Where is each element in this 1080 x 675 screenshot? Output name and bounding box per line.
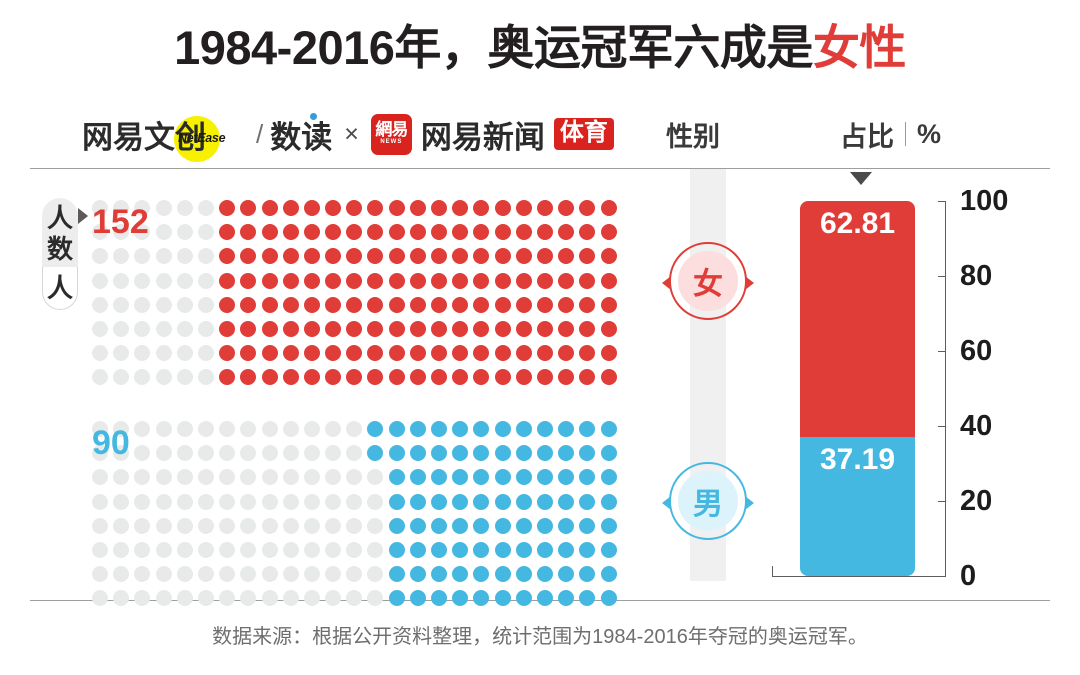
dot-grid-male: [92, 421, 622, 615]
dot-filled: [473, 224, 489, 240]
dot-empty: [198, 445, 214, 461]
dot-empty: [262, 469, 278, 485]
netease-news-logo: 網易 NEWS: [371, 114, 412, 155]
dot-filled: [601, 369, 617, 385]
dot-empty: [262, 445, 278, 461]
dot-filled: [283, 248, 299, 264]
dot-empty: [134, 273, 150, 289]
dot-filled: [410, 494, 426, 510]
dot-filled: [579, 321, 595, 337]
dot-empty: [177, 566, 193, 582]
dot-filled: [495, 345, 511, 361]
dot-empty: [113, 297, 129, 313]
dot-empty: [134, 566, 150, 582]
sub-brand-shudu: 数读: [270, 112, 332, 157]
column-header-gender-label: 性别: [666, 115, 720, 154]
dot-empty: [134, 590, 150, 606]
dot-filled: [516, 273, 532, 289]
dot-filled: [473, 421, 489, 437]
dot-filled: [495, 248, 511, 264]
dot-filled: [601, 224, 617, 240]
bar-segment-male[interactable]: 37.19: [800, 437, 915, 576]
dot-filled: [495, 469, 511, 485]
dot-filled: [240, 321, 256, 337]
dot-filled: [579, 542, 595, 558]
dot-empty: [92, 494, 108, 510]
dot-filled: [452, 273, 468, 289]
dot-filled: [304, 224, 320, 240]
dot-filled: [452, 518, 468, 534]
dot-filled: [579, 273, 595, 289]
dot-filled: [431, 224, 447, 240]
dot-filled: [262, 369, 278, 385]
dot-filled: [431, 369, 447, 385]
dot-filled: [389, 518, 405, 534]
dot-empty: [346, 421, 362, 437]
dot-filled: [325, 369, 341, 385]
dot-filled: [219, 273, 235, 289]
dot-empty: [240, 445, 256, 461]
dot-filled: [579, 369, 595, 385]
dot-filled: [304, 248, 320, 264]
dot-filled: [283, 345, 299, 361]
dot-filled: [304, 200, 320, 216]
dot-filled: [452, 445, 468, 461]
dot-empty: [304, 542, 320, 558]
y-axis-tick-label: 80: [960, 262, 992, 291]
dot-empty: [134, 542, 150, 558]
dot-filled: [579, 345, 595, 361]
dot-filled: [304, 369, 320, 385]
dot-empty: [198, 200, 214, 216]
dot-filled: [240, 248, 256, 264]
dot-filled: [495, 494, 511, 510]
dot-empty: [156, 590, 172, 606]
dot-empty: [134, 518, 150, 534]
dot-filled: [473, 518, 489, 534]
dot-empty: [346, 590, 362, 606]
dot-filled: [304, 273, 320, 289]
dot-empty: [177, 542, 193, 558]
dot-empty: [325, 590, 341, 606]
y-axis-tick-label: 40: [960, 412, 992, 441]
dot-filled: [367, 273, 383, 289]
dot-filled: [410, 566, 426, 582]
dot-filled: [516, 469, 532, 485]
dot-empty: [177, 518, 193, 534]
dot-filled: [601, 273, 617, 289]
dot-filled: [452, 345, 468, 361]
dot-filled: [410, 200, 426, 216]
dot-filled: [579, 518, 595, 534]
y-axis-line: [945, 201, 946, 576]
dot-empty: [134, 248, 150, 264]
dot-filled: [452, 469, 468, 485]
dot-filled: [516, 421, 532, 437]
dot-empty: [198, 248, 214, 264]
dot-empty: [177, 297, 193, 313]
dot-filled: [431, 273, 447, 289]
dot-filled: [283, 369, 299, 385]
dot-empty: [346, 494, 362, 510]
dot-filled: [452, 421, 468, 437]
dot-empty: [325, 445, 341, 461]
dot-filled: [516, 494, 532, 510]
dot-filled: [516, 369, 532, 385]
dot-empty: [177, 590, 193, 606]
dot-empty: [198, 321, 214, 337]
dot-filled: [240, 369, 256, 385]
dot-empty: [134, 345, 150, 361]
dot-filled: [558, 273, 574, 289]
dot-filled: [579, 421, 595, 437]
y-axis-tick: [938, 201, 946, 202]
dot-filled: [219, 369, 235, 385]
dot-empty: [113, 469, 129, 485]
blue-dot-icon: [310, 113, 317, 120]
dot-filled: [579, 566, 595, 582]
dot-filled: [325, 297, 341, 313]
dot-empty: [219, 421, 235, 437]
dot-filled: [452, 200, 468, 216]
dot-filled: [219, 345, 235, 361]
dot-filled: [558, 590, 574, 606]
dot-filled: [601, 200, 617, 216]
dot-empty: [198, 590, 214, 606]
dot-empty: [283, 421, 299, 437]
dot-filled: [283, 273, 299, 289]
dot-empty: [346, 469, 362, 485]
y-axis-tick: [938, 276, 946, 277]
dot-empty: [177, 345, 193, 361]
dot-filled: [283, 321, 299, 337]
dot-empty: [113, 542, 129, 558]
triangle-down-icon: [850, 172, 872, 185]
dot-filled: [537, 469, 553, 485]
dot-filled: [473, 321, 489, 337]
dot-filled: [537, 566, 553, 582]
dot-empty: [262, 518, 278, 534]
dot-empty: [134, 369, 150, 385]
dot-filled: [601, 542, 617, 558]
dot-filled: [410, 469, 426, 485]
dot-filled: [389, 566, 405, 582]
dot-empty: [156, 224, 172, 240]
dot-empty: [156, 566, 172, 582]
dot-empty: [113, 494, 129, 510]
dot-empty: [240, 494, 256, 510]
dot-filled: [431, 345, 447, 361]
dot-filled: [325, 345, 341, 361]
dot-empty: [156, 421, 172, 437]
dot-filled: [452, 297, 468, 313]
dot-filled: [219, 224, 235, 240]
dot-filled: [516, 445, 532, 461]
dot-filled: [452, 248, 468, 264]
dot-empty: [240, 590, 256, 606]
dot-filled: [558, 248, 574, 264]
slash-separator: /: [256, 119, 263, 150]
dot-filled: [516, 321, 532, 337]
dot-filled: [495, 297, 511, 313]
dot-empty: [283, 494, 299, 510]
dot-empty: [92, 297, 108, 313]
dot-empty: [283, 566, 299, 582]
dot-filled: [240, 345, 256, 361]
page-title: 1984-2016年，奥运冠军六成是女性: [0, 22, 1080, 74]
dot-filled: [601, 494, 617, 510]
dot-empty: [198, 566, 214, 582]
dot-empty: [240, 542, 256, 558]
dot-filled: [516, 345, 532, 361]
dot-filled: [389, 469, 405, 485]
dot-filled: [537, 224, 553, 240]
dot-filled: [558, 321, 574, 337]
dot-filled: [410, 273, 426, 289]
dot-filled: [240, 297, 256, 313]
dot-empty: [304, 590, 320, 606]
dot-filled: [579, 469, 595, 485]
dot-filled: [346, 321, 362, 337]
dot-filled: [537, 345, 553, 361]
dot-empty: [262, 542, 278, 558]
dot-empty: [198, 469, 214, 485]
netease-news-label: 网易新闻: [421, 112, 545, 157]
dot-filled: [431, 248, 447, 264]
dot-grid-female-count: 152: [92, 203, 149, 242]
dot-filled: [367, 248, 383, 264]
dot-filled: [537, 321, 553, 337]
dot-empty: [177, 200, 193, 216]
dot-filled: [431, 297, 447, 313]
dot-filled: [537, 273, 553, 289]
dot-empty: [240, 421, 256, 437]
dot-empty: [134, 321, 150, 337]
dot-empty: [283, 590, 299, 606]
dot-filled: [558, 345, 574, 361]
header-divider: [905, 122, 906, 146]
dot-filled: [537, 248, 553, 264]
dot-empty: [92, 248, 108, 264]
dot-filled: [473, 345, 489, 361]
dot-filled: [601, 518, 617, 534]
dot-filled: [389, 273, 405, 289]
dot-filled: [325, 224, 341, 240]
dot-filled: [431, 590, 447, 606]
dot-empty: [346, 518, 362, 534]
y-axis-tick: [938, 576, 946, 577]
dot-empty: [198, 542, 214, 558]
dot-filled: [410, 518, 426, 534]
dot-filled: [601, 590, 617, 606]
dot-filled: [601, 421, 617, 437]
netease-wordmark: NetEase: [178, 131, 225, 145]
dot-filled: [495, 224, 511, 240]
dot-empty: [156, 200, 172, 216]
netease-logo-en: NEWS: [380, 138, 402, 146]
dot-filled: [431, 421, 447, 437]
dot-filled: [431, 518, 447, 534]
dot-filled: [452, 321, 468, 337]
dot-empty: [92, 469, 108, 485]
dot-filled: [452, 494, 468, 510]
dot-empty: [92, 518, 108, 534]
x-axis-end-cap: [772, 566, 773, 577]
dot-empty: [304, 494, 320, 510]
dot-empty: [198, 273, 214, 289]
dot-filled: [579, 297, 595, 313]
y-axis-tick-label: 20: [960, 487, 992, 516]
dot-filled: [516, 224, 532, 240]
dot-filled: [367, 421, 383, 437]
dot-filled: [537, 590, 553, 606]
y-axis-tick-label: 100: [960, 187, 1008, 216]
dot-filled: [410, 224, 426, 240]
dot-filled: [601, 248, 617, 264]
dot-empty: [198, 224, 214, 240]
dot-filled: [325, 273, 341, 289]
column-header-gender: 性别: [666, 106, 720, 162]
dot-filled: [262, 200, 278, 216]
left-axis-label-text: 人数: [42, 198, 78, 267]
dot-empty: [156, 345, 172, 361]
gender-badge-male[interactable]: 男: [669, 462, 747, 540]
dot-empty: [240, 518, 256, 534]
dot-filled: [495, 273, 511, 289]
dot-empty: [367, 518, 383, 534]
dot-filled: [240, 200, 256, 216]
dot-filled: [431, 469, 447, 485]
dot-filled: [367, 345, 383, 361]
dot-empty: [113, 273, 129, 289]
brand-netease-wenchuang: 网易文创 NetEase /: [82, 112, 270, 157]
dot-filled: [219, 297, 235, 313]
dot-filled: [516, 542, 532, 558]
dot-filled: [473, 590, 489, 606]
dot-filled: [473, 494, 489, 510]
dot-filled: [495, 200, 511, 216]
gender-badge-female[interactable]: 女: [669, 242, 747, 320]
dot-filled: [558, 518, 574, 534]
dot-filled: [389, 297, 405, 313]
dot-filled: [410, 421, 426, 437]
left-axis-label: 人数 人: [42, 198, 78, 310]
dot-filled: [452, 542, 468, 558]
dot-filled: [537, 494, 553, 510]
dot-empty: [262, 590, 278, 606]
dot-empty: [283, 469, 299, 485]
dot-filled: [367, 369, 383, 385]
dot-filled: [473, 200, 489, 216]
dot-empty: [156, 321, 172, 337]
dot-filled: [367, 321, 383, 337]
dot-filled: [473, 369, 489, 385]
dot-filled: [495, 542, 511, 558]
dot-filled: [283, 200, 299, 216]
dot-filled: [473, 248, 489, 264]
dot-empty: [92, 542, 108, 558]
dot-empty: [134, 494, 150, 510]
dot-filled: [516, 590, 532, 606]
dot-empty: [92, 273, 108, 289]
dot-empty: [304, 518, 320, 534]
dot-filled: [389, 445, 405, 461]
dot-empty: [325, 469, 341, 485]
dot-empty: [198, 494, 214, 510]
arrow-left-icon: [662, 496, 671, 510]
bar-segment-female[interactable]: 62.81: [800, 201, 915, 437]
dot-filled: [410, 590, 426, 606]
dot-filled: [219, 200, 235, 216]
dot-empty: [92, 321, 108, 337]
dot-empty: [156, 542, 172, 558]
dot-filled: [367, 200, 383, 216]
dot-empty: [198, 369, 214, 385]
dot-filled: [262, 297, 278, 313]
dot-empty: [219, 518, 235, 534]
header-rule: [30, 168, 1050, 169]
dot-filled: [346, 224, 362, 240]
dot-empty: [92, 566, 108, 582]
dot-empty: [113, 590, 129, 606]
dot-empty: [156, 273, 172, 289]
dot-filled: [558, 297, 574, 313]
dot-empty: [156, 518, 172, 534]
triangle-right-icon: [78, 208, 88, 224]
dot-filled: [558, 445, 574, 461]
y-axis-tick-label: 0: [960, 562, 976, 591]
dot-grid-male-count: 90: [92, 424, 130, 463]
dot-empty: [219, 590, 235, 606]
dot-filled: [601, 297, 617, 313]
dot-filled: [389, 224, 405, 240]
dot-filled: [410, 297, 426, 313]
bar-segment-male-value: 37.19: [820, 443, 895, 476]
dot-filled: [516, 297, 532, 313]
dot-filled: [389, 321, 405, 337]
dot-filled: [346, 200, 362, 216]
dot-filled: [495, 445, 511, 461]
dot-filled: [240, 224, 256, 240]
dot-filled: [558, 421, 574, 437]
dot-filled: [558, 494, 574, 510]
dot-filled: [495, 369, 511, 385]
dot-filled: [389, 345, 405, 361]
dot-empty: [156, 369, 172, 385]
dot-filled: [558, 469, 574, 485]
dot-empty: [304, 445, 320, 461]
dot-filled: [240, 273, 256, 289]
dot-filled: [473, 273, 489, 289]
y-axis-tick-label: 60: [960, 337, 992, 366]
dot-empty: [283, 445, 299, 461]
dot-filled: [495, 321, 511, 337]
dot-filled: [410, 542, 426, 558]
dot-filled: [579, 248, 595, 264]
dot-empty: [156, 248, 172, 264]
dot-empty: [304, 469, 320, 485]
section-badge-sports: 体育: [554, 118, 614, 150]
dot-filled: [473, 566, 489, 582]
dot-empty: [325, 518, 341, 534]
dot-filled: [389, 494, 405, 510]
dot-filled: [346, 248, 362, 264]
dot-filled: [537, 445, 553, 461]
dot-empty: [283, 542, 299, 558]
dot-filled: [516, 566, 532, 582]
column-header-percent-unit: %: [917, 119, 941, 150]
dot-filled: [389, 369, 405, 385]
